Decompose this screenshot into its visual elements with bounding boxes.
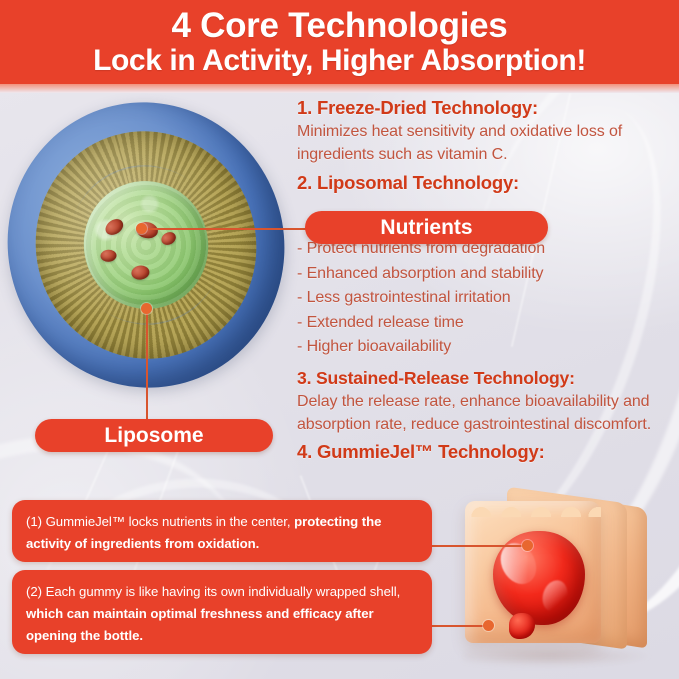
callout-2-connector-dot <box>483 620 494 631</box>
tech-3-body-line2: absorption rate, reduce gastrointestinal… <box>297 413 673 436</box>
nutrient-particle <box>103 215 127 237</box>
gummy-shadow <box>463 645 653 667</box>
callout-box-2: (2) Each gummy is like having its own in… <box>12 570 432 654</box>
callout-1-text: (1) GummieJel™ locks nutrients in the ce… <box>26 514 294 529</box>
tech-2-bullet-3: - Less gastrointestinal irritation <box>297 286 673 311</box>
liposome-connector-dot <box>141 303 152 314</box>
callout-2-connector-line <box>432 625 488 627</box>
nutrient-particle <box>100 249 117 262</box>
tech-3-heading: 3. Sustained-Release Technology: <box>297 366 673 390</box>
tech-2-bullet-2: - Enhanced absorption and stability <box>297 262 673 287</box>
gummy-illustration <box>455 485 670 670</box>
technology-list: 1. Freeze-Dried Technology: Minimizes he… <box>297 96 673 464</box>
header-title-line1: 4 Core Technologies <box>172 8 508 44</box>
liposome-badge: Liposome <box>35 419 273 452</box>
tech-2-bullet-5: - Higher bioavailability <box>297 335 673 360</box>
infographic-page: 4 Core Technologies Lock in Activity, Hi… <box>0 0 679 679</box>
nutrients-connector-dot <box>136 223 147 234</box>
nutrient-particle <box>159 229 178 247</box>
header-banner: 4 Core Technologies Lock in Activity, Hi… <box>0 0 679 84</box>
header-title-line2: Lock in Activity, Higher Absorption! <box>93 45 586 77</box>
liposome-outer-membrane <box>0 70 318 421</box>
callout-1-connector-dot <box>522 540 533 551</box>
liposome-diagram <box>8 96 288 396</box>
tech-1-heading: 1. Freeze-Dried Technology: <box>297 96 673 120</box>
tech-2-heading: 2. Liposomal Technology: <box>297 171 673 195</box>
tech-2-bullet-4: - Extended release time <box>297 311 673 336</box>
tech-2-bullets: - Protect nutrients from degradation - E… <box>297 237 673 360</box>
liposome-connector-line <box>146 311 148 423</box>
tech-4-heading: 4. GummieJel™ Technology: <box>297 440 673 464</box>
nutrients-badge: Nutrients <box>305 211 548 244</box>
tech-1-body-line1: Minimizes heat sensitivity and oxidative… <box>297 120 673 143</box>
callout-box-1: (1) GummieJel™ locks nutrients in the ce… <box>12 500 432 562</box>
nutrients-connector-line <box>143 228 311 230</box>
tech-1-body-line2: ingredients such as vitamin C. <box>297 143 673 166</box>
nutrient-particle <box>130 265 150 281</box>
tech-3-body-line1: Delay the release rate, enhance bioavail… <box>297 390 673 413</box>
callout-1-connector-line <box>432 545 528 547</box>
gummy-scalloped-top <box>465 491 601 517</box>
callout-2-text: (2) Each gummy is like having its own in… <box>26 584 400 599</box>
callout-2-bold: which can maintain optimal freshness and… <box>26 606 374 643</box>
